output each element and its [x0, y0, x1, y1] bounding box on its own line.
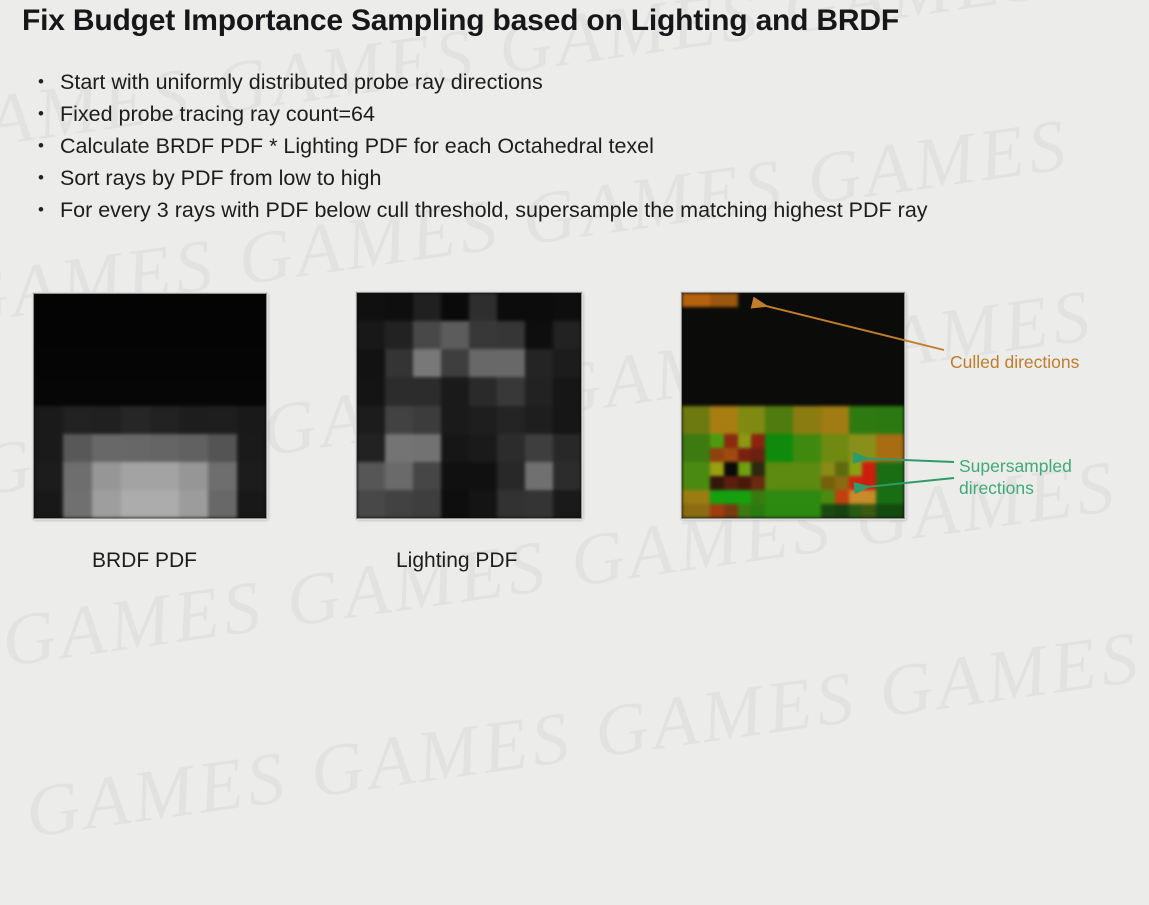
heatmap-cell [121, 378, 150, 406]
heatmap-cell [121, 350, 150, 378]
heatmap-cell [876, 321, 890, 335]
heatmap-cell [710, 420, 724, 434]
heatmap-cell [682, 490, 696, 504]
heatmap-cell [150, 322, 179, 350]
heatmap-cell [793, 321, 807, 335]
heatmap-cell [682, 462, 696, 476]
heatmap-cell [821, 504, 835, 518]
heatmap-cell [413, 321, 441, 349]
heatmap-cell [876, 448, 890, 462]
heatmap-cell [793, 377, 807, 391]
heatmap-cell [779, 307, 793, 321]
heatmap-cell [751, 335, 765, 349]
heatmap-cell [738, 391, 752, 405]
heatmap-cell [92, 350, 121, 378]
heatmap-cell [765, 504, 779, 518]
heatmap-cell [835, 490, 849, 504]
heatmap-cell [807, 504, 821, 518]
heatmap-cell [779, 406, 793, 420]
heatmap-cell [765, 434, 779, 448]
heatmap-cell [179, 350, 208, 378]
bullet-marker-icon: • [22, 98, 60, 130]
heatmap-cell [876, 391, 890, 405]
heatmap-cell [793, 476, 807, 490]
heatmap-cell [821, 462, 835, 476]
heatmap-cell [876, 377, 890, 391]
heatmap-cell [469, 434, 497, 462]
heatmap-cell [413, 377, 441, 405]
heatmap-cell [237, 462, 266, 490]
heatmap-cell [821, 349, 835, 363]
heatmap-cell [849, 434, 863, 448]
heatmap-cell [724, 391, 738, 405]
heatmap-cell [890, 504, 904, 518]
heatmap-cell [835, 321, 849, 335]
heatmap-cell [821, 293, 835, 307]
heatmap-cell [849, 490, 863, 504]
heatmap-cell [835, 377, 849, 391]
heatmap-cell [821, 335, 835, 349]
heatmap-cell [738, 307, 752, 321]
heatmap-cell [553, 490, 581, 518]
heatmap-cell [835, 307, 849, 321]
heatmap-cell [751, 434, 765, 448]
heatmap-cell [876, 476, 890, 490]
heatmap-cell [682, 504, 696, 518]
heatmap-cell [92, 294, 121, 322]
heatmap-cell [497, 377, 525, 405]
heatmap-cell [765, 391, 779, 405]
heatmap-cell [862, 462, 876, 476]
heatmap-cell [724, 448, 738, 462]
heatmap-cell [208, 322, 237, 350]
heatmap-cell [696, 391, 710, 405]
heatmap-cell [793, 406, 807, 420]
heatmap-cell [738, 504, 752, 518]
heatmap-cell [208, 378, 237, 406]
heatmap-cell [385, 406, 413, 434]
heatmap-cell [682, 293, 696, 307]
heatmap-cell [413, 293, 441, 321]
heatmap-cell [849, 363, 863, 377]
heatmap-cell [793, 434, 807, 448]
heatmap-cell [682, 420, 696, 434]
heatmap-cell [413, 406, 441, 434]
heatmap-cell [150, 462, 179, 490]
heatmap-cell [821, 377, 835, 391]
heatmap-cell [876, 420, 890, 434]
heatmap-cell [525, 293, 553, 321]
heatmap-cell [710, 504, 724, 518]
heatmap-cell [469, 321, 497, 349]
heatmap-cell [441, 434, 469, 462]
heatmap-cell [835, 462, 849, 476]
heatmap-cell [807, 321, 821, 335]
heatmap-cell [835, 406, 849, 420]
heatmap-cell [682, 335, 696, 349]
heatmap-cell [696, 321, 710, 335]
heatmap-cell [34, 490, 63, 518]
heatmap-cell [862, 420, 876, 434]
heatmap-cell [710, 377, 724, 391]
heatmap-cell [862, 377, 876, 391]
heatmap-cell [738, 293, 752, 307]
heatmap-cell [807, 448, 821, 462]
heatmap-cell [441, 293, 469, 321]
heatmap-cell [876, 406, 890, 420]
heatmap-cell [890, 293, 904, 307]
lighting-pdf-grid [357, 293, 581, 518]
heatmap-cell [793, 391, 807, 405]
heatmap-cell [497, 293, 525, 321]
heatmap-cell [710, 307, 724, 321]
heatmap-cell [179, 378, 208, 406]
sampling-result-grid [682, 293, 904, 518]
heatmap-cell [553, 406, 581, 434]
heatmap-cell [793, 462, 807, 476]
lighting-pdf-caption: Lighting PDF [396, 549, 517, 573]
heatmap-cell [385, 377, 413, 405]
heatmap-cell [821, 476, 835, 490]
heatmap-cell [779, 420, 793, 434]
heatmap-cell [724, 321, 738, 335]
heatmap-cell [237, 378, 266, 406]
heatmap-cell [862, 335, 876, 349]
heatmap-cell [525, 406, 553, 434]
heatmap-cell [807, 349, 821, 363]
heatmap-cell [738, 349, 752, 363]
heatmap-cell [724, 490, 738, 504]
heatmap-cell [751, 406, 765, 420]
heatmap-cell [779, 363, 793, 377]
heatmap-cell [497, 462, 525, 490]
heatmap-cell [525, 462, 553, 490]
heatmap-cell [807, 307, 821, 321]
heatmap-cell [849, 321, 863, 335]
heatmap-cell [179, 434, 208, 462]
heatmap-cell [385, 490, 413, 518]
heatmap-cell [121, 462, 150, 490]
heatmap-cell [765, 476, 779, 490]
heatmap-cell [862, 307, 876, 321]
heatmap-cell [208, 294, 237, 322]
heatmap-cell [34, 462, 63, 490]
heatmap-cell [821, 321, 835, 335]
heatmap-cell [237, 322, 266, 350]
lighting-pdf-heatmap [356, 292, 582, 519]
heatmap-cell [237, 350, 266, 378]
heatmap-cell [876, 349, 890, 363]
heatmap-cell [63, 294, 92, 322]
heatmap-cell [738, 490, 752, 504]
heatmap-cell [765, 490, 779, 504]
culled-directions-label: Culled directions [950, 351, 1079, 373]
heatmap-cell [525, 349, 553, 377]
heatmap-cell [34, 378, 63, 406]
heatmap-cell [682, 476, 696, 490]
heatmap-cell [237, 406, 266, 434]
heatmap-cell [682, 434, 696, 448]
heatmap-cell [441, 321, 469, 349]
heatmap-cell [821, 307, 835, 321]
heatmap-cell [63, 322, 92, 350]
heatmap-cell [890, 307, 904, 321]
heatmap-cell [179, 462, 208, 490]
heatmap-cell [357, 406, 385, 434]
heatmap-cell [890, 434, 904, 448]
heatmap-cell [821, 490, 835, 504]
heatmap-cell [849, 406, 863, 420]
heatmap-cell [793, 504, 807, 518]
heatmap-cell [876, 307, 890, 321]
heatmap-cell [779, 490, 793, 504]
heatmap-cell [751, 321, 765, 335]
heatmap-cell [696, 434, 710, 448]
list-item-label: Fixed probe tracing ray count=64 [60, 98, 375, 130]
heatmap-cell [357, 490, 385, 518]
heatmap-cell [682, 406, 696, 420]
heatmap-cell [890, 420, 904, 434]
heatmap-cell [862, 293, 876, 307]
list-item: • Fixed probe tracing ray count=64 [22, 98, 1142, 130]
brdf-pdf-caption: BRDF PDF [92, 549, 197, 573]
heatmap-cell [835, 335, 849, 349]
heatmap-cell [208, 350, 237, 378]
heatmap-cell [208, 490, 237, 518]
heatmap-cell [710, 335, 724, 349]
heatmap-cell [862, 363, 876, 377]
heatmap-cell [469, 462, 497, 490]
heatmap-cell [179, 406, 208, 434]
heatmap-cell [862, 349, 876, 363]
heatmap-cell [710, 349, 724, 363]
heatmap-cell [237, 490, 266, 518]
heatmap-cell [553, 349, 581, 377]
heatmap-cell [779, 476, 793, 490]
heatmap-cell [357, 293, 385, 321]
heatmap-cell [92, 490, 121, 518]
heatmap-cell [92, 406, 121, 434]
heatmap-cell [807, 377, 821, 391]
heatmap-cell [779, 434, 793, 448]
heatmap-cell [807, 462, 821, 476]
heatmap-cell [357, 434, 385, 462]
heatmap-cell [779, 293, 793, 307]
heatmap-cell [849, 504, 863, 518]
heatmap-cell [385, 434, 413, 462]
heatmap-cell [807, 476, 821, 490]
heatmap-cell [710, 293, 724, 307]
heatmap-cell [682, 349, 696, 363]
heatmap-cell [862, 448, 876, 462]
page-title: Fix Budget Importance Sampling based on … [22, 4, 899, 38]
heatmap-cell [469, 293, 497, 321]
heatmap-cell [469, 377, 497, 405]
heatmap-cell [696, 504, 710, 518]
list-item-label: Start with uniformly distributed probe r… [60, 66, 543, 98]
heatmap-cell [751, 349, 765, 363]
heatmap-cell [710, 434, 724, 448]
bullet-marker-icon: • [22, 162, 60, 194]
heatmap-cell [862, 391, 876, 405]
heatmap-cell [821, 448, 835, 462]
heatmap-cell [121, 322, 150, 350]
bullet-marker-icon: • [22, 130, 60, 162]
heatmap-cell [696, 406, 710, 420]
heatmap-cell [793, 335, 807, 349]
bullet-marker-icon: • [22, 194, 60, 226]
heatmap-cell [835, 391, 849, 405]
heatmap-cell [696, 377, 710, 391]
heatmap-cell [696, 462, 710, 476]
heatmap-cell [724, 377, 738, 391]
heatmap-cell [890, 321, 904, 335]
heatmap-cell [724, 476, 738, 490]
heatmap-cell [696, 420, 710, 434]
heatmap-cell [849, 335, 863, 349]
heatmap-cell [835, 476, 849, 490]
heatmap-cell [765, 377, 779, 391]
heatmap-cell [793, 363, 807, 377]
heatmap-cell [876, 434, 890, 448]
heatmap-cell [208, 434, 237, 462]
heatmap-cell [862, 406, 876, 420]
heatmap-cell [738, 377, 752, 391]
heatmap-cell [724, 349, 738, 363]
heatmap-cell [849, 476, 863, 490]
heatmap-cell [208, 406, 237, 434]
heatmap-cell [237, 294, 266, 322]
heatmap-cell [710, 490, 724, 504]
heatmap-cell [751, 476, 765, 490]
heatmap-cell [890, 391, 904, 405]
heatmap-cell [150, 350, 179, 378]
heatmap-cell [553, 462, 581, 490]
bullet-marker-icon: • [22, 66, 60, 98]
heatmap-cell [724, 293, 738, 307]
list-item-label: Calculate BRDF PDF * Lighting PDF for ea… [60, 130, 654, 162]
heatmap-cell [738, 462, 752, 476]
list-item: • Sort rays by PDF from low to high [22, 162, 1142, 194]
list-item: • Calculate BRDF PDF * Lighting PDF for … [22, 130, 1142, 162]
heatmap-cell [862, 321, 876, 335]
heatmap-cell [765, 363, 779, 377]
heatmap-cell [821, 434, 835, 448]
heatmap-cell [34, 434, 63, 462]
heatmap-cell [751, 448, 765, 462]
heatmap-cell [179, 490, 208, 518]
heatmap-cell [849, 448, 863, 462]
sampling-result-heatmap [681, 292, 905, 519]
heatmap-cell [63, 378, 92, 406]
heatmap-cell [553, 293, 581, 321]
heatmap-cell [413, 434, 441, 462]
heatmap-cell [497, 434, 525, 462]
heatmap-cell [682, 448, 696, 462]
heatmap-cell [751, 420, 765, 434]
heatmap-cell [696, 476, 710, 490]
heatmap-cell [150, 434, 179, 462]
heatmap-cell [862, 476, 876, 490]
heatmap-cell [497, 406, 525, 434]
heatmap-cell [793, 349, 807, 363]
heatmap-cell [121, 406, 150, 434]
heatmap-cell [807, 406, 821, 420]
brdf-pdf-heatmap [33, 293, 267, 519]
heatmap-cell [821, 391, 835, 405]
heatmap-cell [876, 335, 890, 349]
heatmap-cell [724, 406, 738, 420]
heatmap-cell [696, 490, 710, 504]
heatmap-cell [751, 377, 765, 391]
heatmap-cell [793, 307, 807, 321]
heatmap-cell [497, 490, 525, 518]
heatmap-cell [807, 434, 821, 448]
heatmap-cell [876, 504, 890, 518]
heatmap-cell [779, 462, 793, 476]
list-item-label: Sort rays by PDF from low to high [60, 162, 381, 194]
heatmap-cell [821, 363, 835, 377]
heatmap-cell [849, 377, 863, 391]
heatmap-cell [765, 293, 779, 307]
heatmap-cell [765, 420, 779, 434]
heatmap-cell [835, 448, 849, 462]
heatmap-cell [835, 420, 849, 434]
heatmap-cell [469, 406, 497, 434]
heatmap-cell [150, 294, 179, 322]
heatmap-cell [724, 462, 738, 476]
heatmap-cell [441, 406, 469, 434]
heatmap-cell [751, 462, 765, 476]
heatmap-cell [724, 307, 738, 321]
heatmap-cell [890, 377, 904, 391]
heatmap-cell [63, 406, 92, 434]
heatmap-cell [765, 321, 779, 335]
heatmap-cell [92, 322, 121, 350]
heatmap-cell [208, 462, 237, 490]
heatmap-cell [34, 350, 63, 378]
heatmap-cell [121, 294, 150, 322]
heatmap-cell [696, 448, 710, 462]
heatmap-cell [92, 434, 121, 462]
heatmap-cell [441, 490, 469, 518]
heatmap-cell [849, 293, 863, 307]
heatmap-cell [890, 349, 904, 363]
heatmap-cell [525, 434, 553, 462]
heatmap-cell [890, 406, 904, 420]
heatmap-cell [121, 490, 150, 518]
heatmap-cell [779, 504, 793, 518]
heatmap-cell [553, 434, 581, 462]
heatmap-cell [63, 462, 92, 490]
heatmap-cell [724, 363, 738, 377]
heatmap-cell [710, 476, 724, 490]
heatmap-cell [34, 322, 63, 350]
heatmap-cell [441, 349, 469, 377]
heatmap-cell [682, 321, 696, 335]
heatmap-cell [890, 448, 904, 462]
heatmap-cell [682, 391, 696, 405]
heatmap-cell [779, 391, 793, 405]
heatmap-cell [738, 434, 752, 448]
heatmap-cell [150, 406, 179, 434]
heatmap-cell [779, 335, 793, 349]
heatmap-cell [890, 363, 904, 377]
heatmap-cell [751, 490, 765, 504]
heatmap-cell [807, 490, 821, 504]
heatmap-cell [92, 462, 121, 490]
heatmap-cell [807, 293, 821, 307]
